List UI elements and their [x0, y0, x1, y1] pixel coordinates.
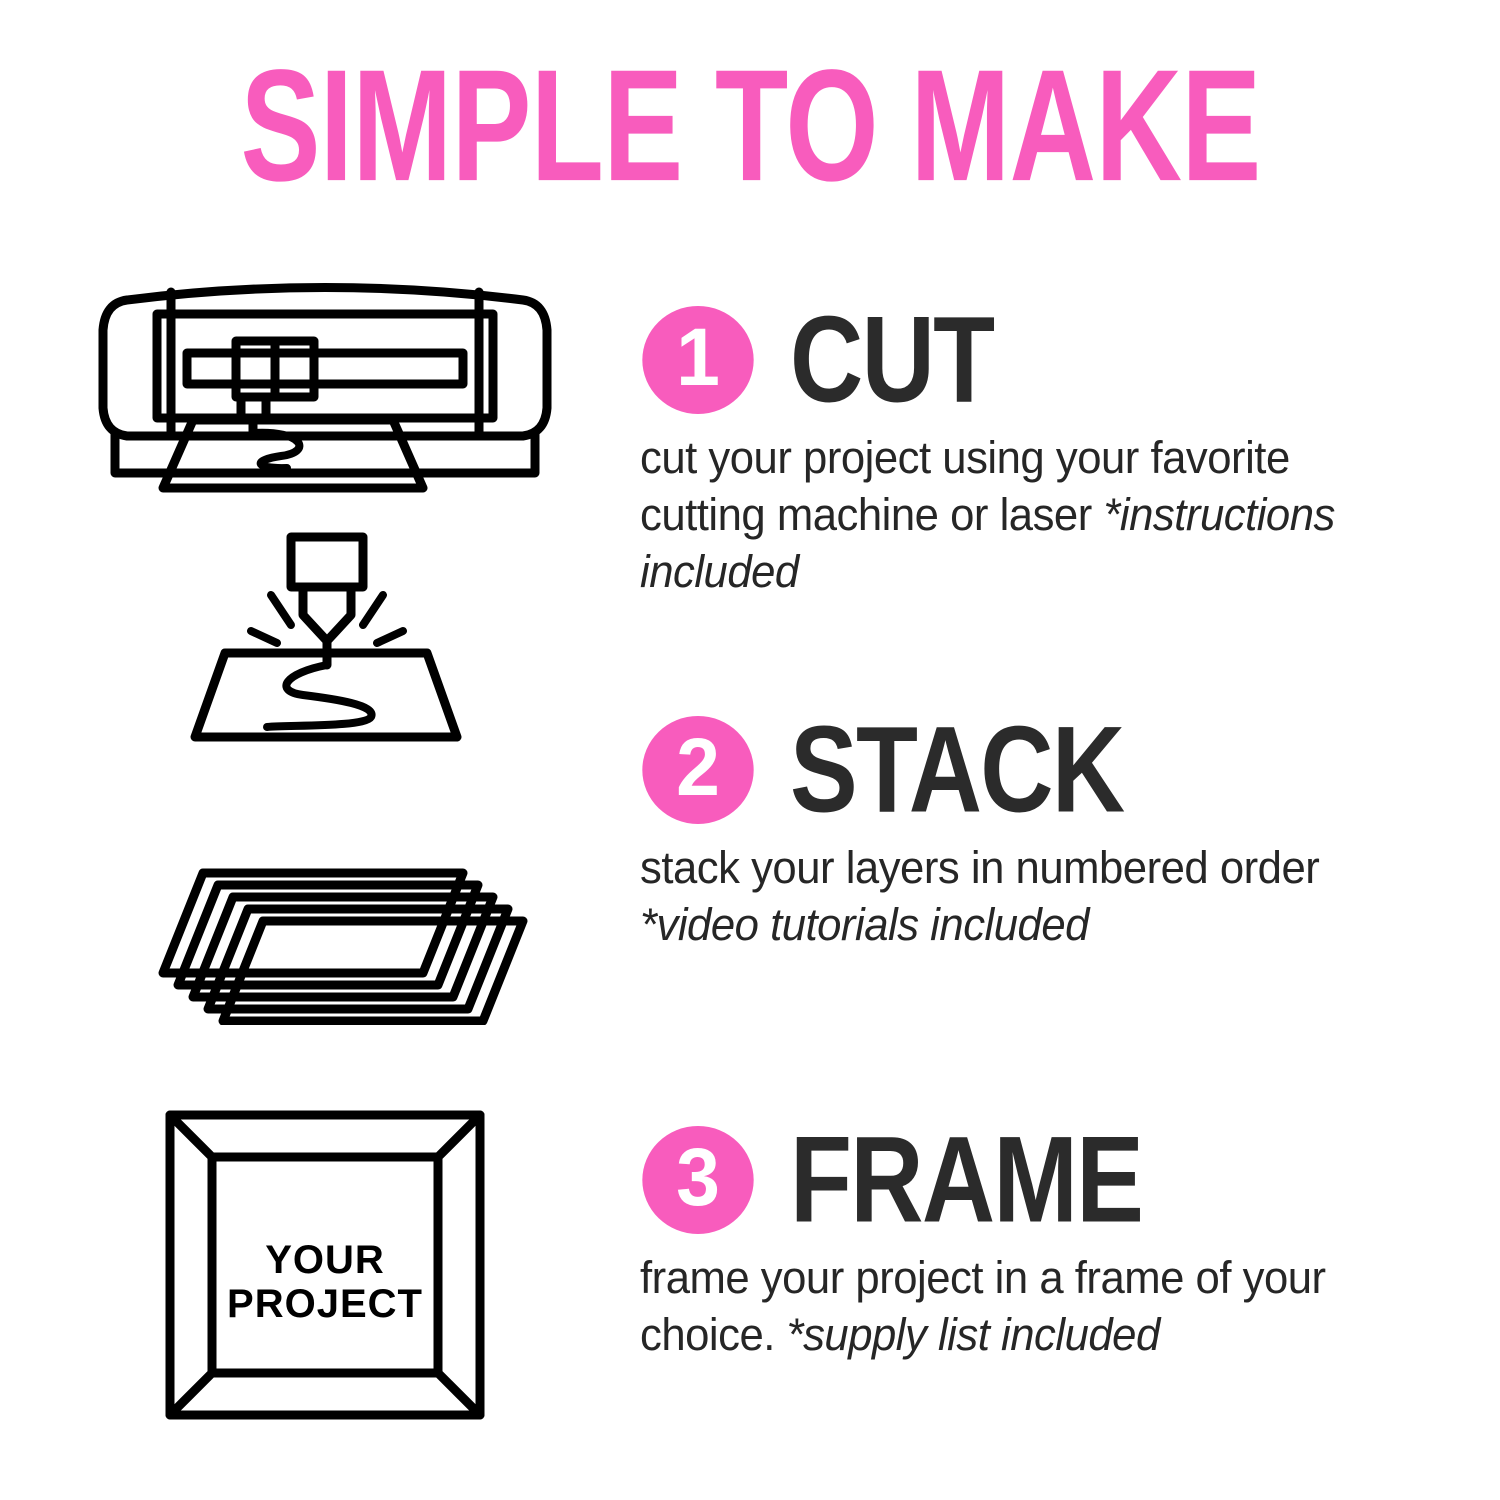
step-number-badge: 1: [642, 306, 753, 414]
step-description-note: *supply list included: [787, 1309, 1160, 1360]
step-header: 2 STACK: [640, 715, 1440, 825]
step-item-frame: 3 FRAME frame your project in a frame of…: [640, 1125, 1440, 1363]
step-description-note: *video tutorials included: [640, 899, 1089, 950]
step-header: 3 FRAME: [640, 1125, 1440, 1235]
step-description: cut your project using your favorite cut…: [640, 429, 1406, 600]
page-title: SIMPLE TO MAKE: [240, 46, 1260, 205]
frame-label-line1: YOUR: [265, 1238, 385, 1282]
cutting-machine-icon: [75, 270, 575, 495]
step-description-text: stack your layers in numbered order: [640, 842, 1319, 893]
illustration-column: YOUR PROJECT: [0, 250, 640, 1500]
step-description: frame your project in a frame of your ch…: [640, 1249, 1406, 1363]
picture-frame-icon: YOUR PROJECT: [160, 1105, 490, 1425]
frame-label-line2: PROJECT: [227, 1282, 423, 1326]
step-description: stack your layers in numbered order *vid…: [640, 839, 1406, 953]
page-header: SIMPLE TO MAKE: [0, 0, 1500, 250]
step-item-cut: 1 CUT cut your project using your favori…: [640, 305, 1440, 600]
step-title: STACK: [790, 709, 1123, 832]
step-title: FRAME: [790, 1119, 1142, 1242]
step-item-stack: 2 STACK stack your layers in numbered or…: [640, 715, 1440, 953]
stacked-layers-icon: [115, 825, 555, 1025]
steps-column: 1 CUT cut your project using your favori…: [640, 250, 1500, 1500]
step-number-badge: 3: [642, 1126, 753, 1234]
step-number-badge: 2: [642, 716, 753, 824]
laser-cutter-icon: [185, 525, 475, 755]
step-header: 1 CUT: [640, 305, 1440, 415]
content-area: YOUR PROJECT 1 CUT cut your project usin…: [0, 250, 1500, 1500]
step-title: CUT: [790, 299, 993, 422]
